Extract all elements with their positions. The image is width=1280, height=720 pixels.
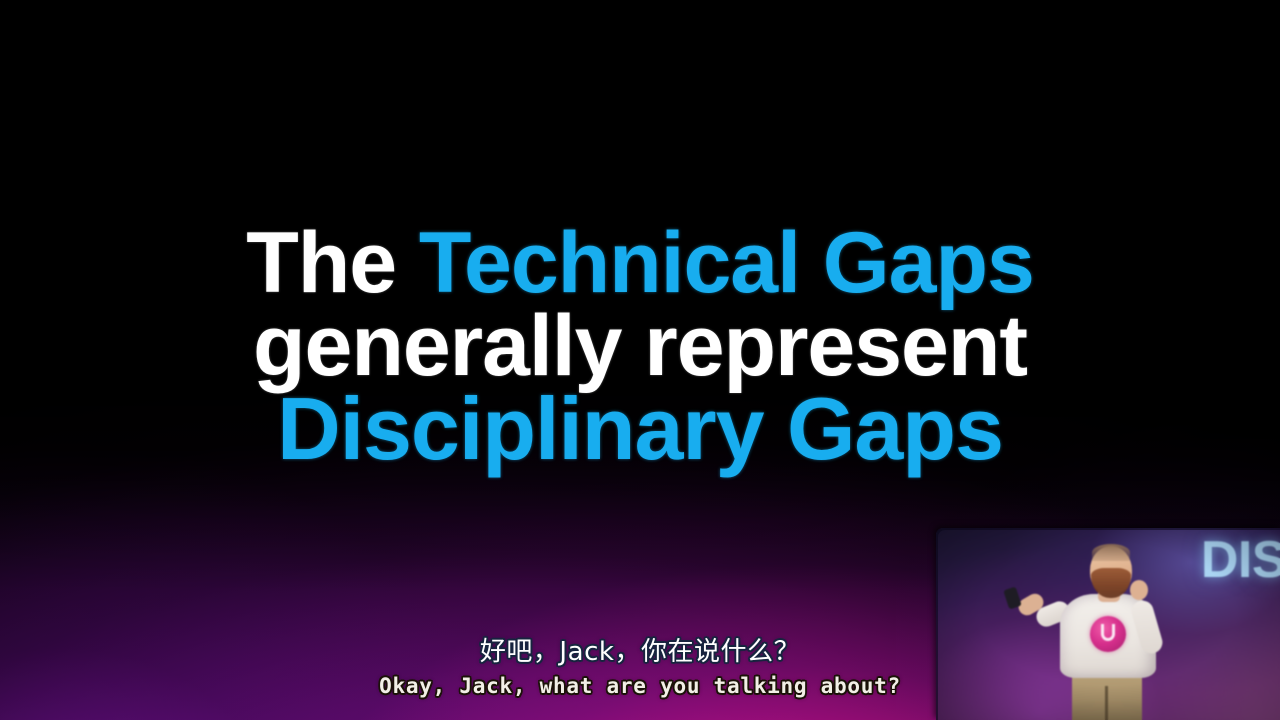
picture-in-picture-speaker-camera[interactable]: DIS [936,528,1280,720]
headline-line-2: generally represent [0,305,1280,388]
headline-line-3-accent: Disciplinary Gaps [277,379,1003,478]
pip-border-edge [936,528,1280,720]
slide-headline: The Technical Gaps generally represent D… [0,222,1280,472]
headline-line-1: The Technical Gaps [0,222,1280,305]
video-frame: The Technical Gaps generally represent D… [0,0,1280,720]
headline-line-3: Disciplinary Gaps [0,387,1280,471]
